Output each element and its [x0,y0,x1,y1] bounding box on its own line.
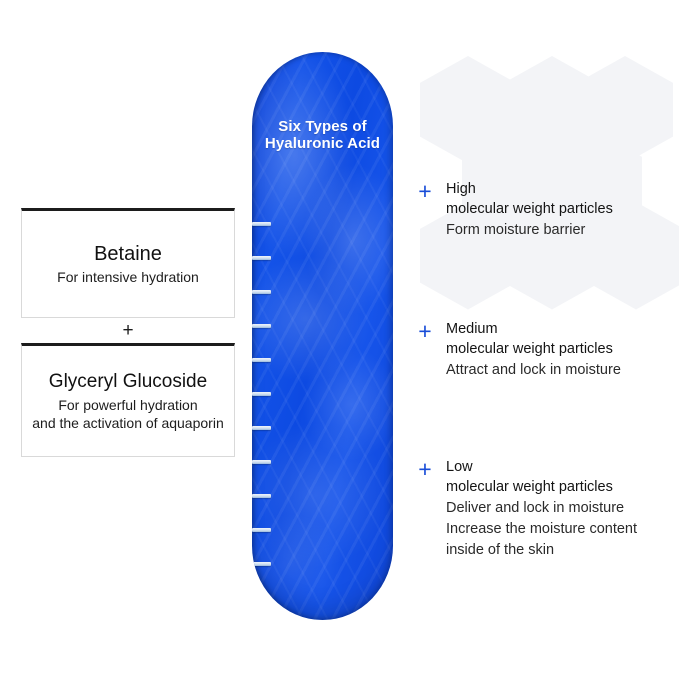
capsule-title-line2: Hyaluronic Acid [252,135,393,152]
ingredient-name: Betaine [94,242,162,266]
ingredient-description-line: and the activation of aquaporin [26,414,229,432]
ingredient-name: Glyceryl Glucoside [49,370,207,394]
ingredient-plus-separator: + [21,320,235,342]
benefit-text: Medium molecular weight particles Attrac… [446,320,677,381]
measurement-tick [252,358,271,362]
measurement-tick [252,392,271,396]
hexagon-watermark [577,56,673,164]
hexagon-watermark [504,56,600,164]
benefit-molecular-weight-label: molecular weight particles [446,199,677,220]
benefit-detail-line: Deliver and lock in moisture [446,498,677,519]
benefit-grade-label: Medium [446,320,677,339]
benefit-block-low: + Low molecular weight particles Deliver… [415,458,677,561]
measurement-tick [252,528,271,532]
measurement-tick [252,426,271,430]
benefit-detail-line: Increase the moisture content [446,519,677,540]
benefit-detail-line: inside of the skin [446,540,677,561]
benefit-detail-line: Attract and lock in moisture [446,360,677,381]
capsule-title: Six Types of Hyaluronic Acid [252,118,393,152]
ingredient-description-line: For powerful hydration [52,396,203,414]
ingredient-box-glyceryl-glucoside: Glyceryl Glucoside For powerful hydratio… [21,343,235,457]
hexagon-watermark [420,56,516,164]
plus-icon: + [415,181,435,201]
benefit-block-medium: + Medium molecular weight particles Attr… [415,320,677,381]
hyaluronic-acid-capsule: Six Types of Hyaluronic Acid [252,52,393,620]
benefit-detail-line: Form moisture barrier [446,220,677,241]
capsule-title-line1: Six Types of [252,118,393,135]
benefit-grade-label: High [446,180,677,199]
benefit-text: High molecular weight particles Form moi… [446,180,677,241]
benefit-molecular-weight-label: molecular weight particles [446,339,677,360]
measurement-tick [252,324,271,328]
ingredient-box-betaine: Betaine For intensive hydration [21,208,235,318]
plus-icon: + [415,321,435,341]
benefit-text: Low molecular weight particles Deliver a… [446,458,677,561]
measurement-tick [252,290,271,294]
infographic-canvas: Six Types of Hyaluronic Acid Betaine For… [0,0,679,679]
benefit-grade-label: Low [446,458,677,477]
measurement-tick [252,256,271,260]
benefit-block-high: + High molecular weight particles Form m… [415,180,677,241]
benefit-molecular-weight-label: molecular weight particles [446,477,677,498]
measurement-tick [252,222,271,226]
measurement-tick [252,460,271,464]
ingredient-description-line: For intensive hydration [51,268,205,286]
plus-icon: + [415,459,435,479]
measurement-tick [252,494,271,498]
measurement-tick [252,562,271,566]
